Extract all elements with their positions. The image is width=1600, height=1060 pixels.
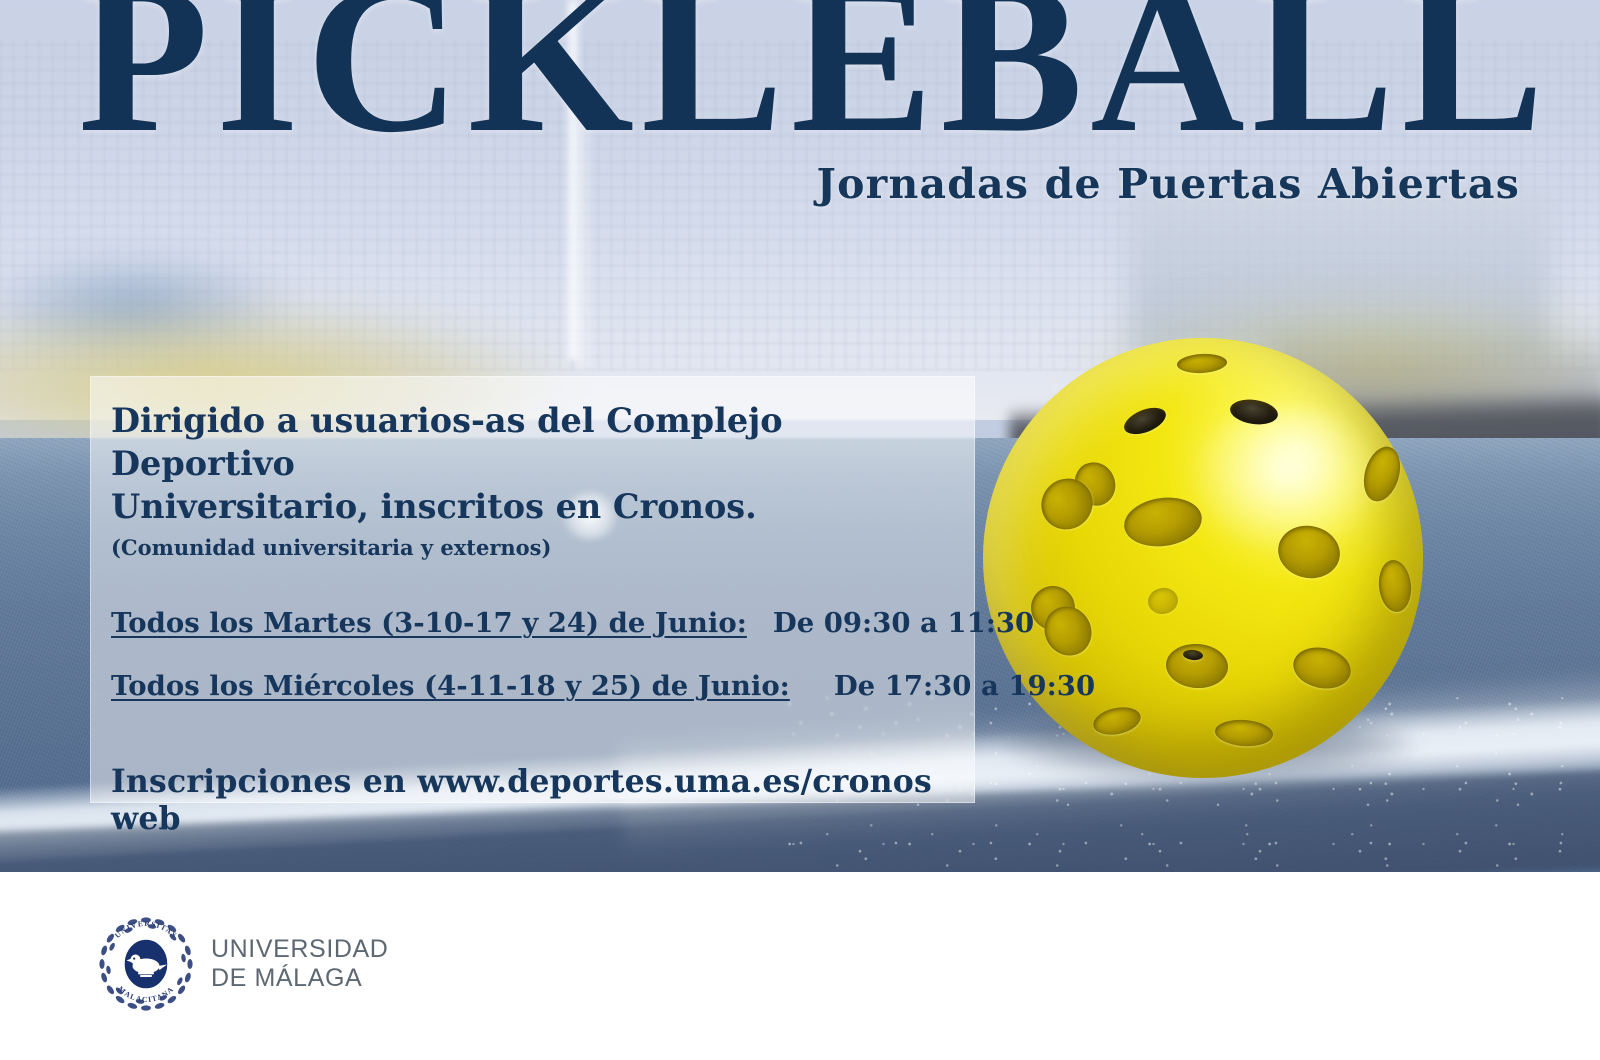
info-panel-content: Dirigido a usuarios-as del Complejo Depo… [111,399,958,837]
footer-bar: UNIVERSITAS MALACITANA [0,872,1600,1060]
schedule-list: Todos los Martes (3-10-17 y 24) de Junio… [111,605,958,705]
schedule-time: De 17:30 a 19:30 [834,670,1095,702]
uma-name-line-2: DE MÁLAGA [211,964,388,993]
signup-line: Inscripciones en www.deportes.uma.es/cro… [111,763,958,837]
info-lead-line-2: Universitario, inscritos en Cronos. [111,485,958,528]
uma-wordmark: UNIVERSIDAD DE MÁLAGA [211,935,388,993]
info-lead-line-1: Dirigido a usuarios-as del Complejo Depo… [111,399,958,485]
schedule-row: Todos los Martes (3-10-17 y 24) de Junio… [111,605,958,642]
uma-name-line-1: UNIVERSIDAD [211,935,388,964]
page-title: PICKLEBALL [78,0,1598,166]
poster-root: PICKLEBALL Jornadas de Puertas Abiertas … [0,0,1600,1060]
schedule-time: De 09:30 a 11:30 [773,607,1034,639]
schedule-days: Todos los Martes (3-10-17 y 24) de Junio… [111,607,747,639]
info-note: (Comunidad universitaria y externos) [111,534,958,561]
pickleball-ball-photo [983,338,1429,784]
svg-text:UNIVERSITAS: UNIVERSITAS [113,919,179,940]
schedule-days: Todos los Miércoles (4-11-18 y 25) de Ju… [111,670,790,702]
ball-rim-shading [983,338,1423,778]
uma-crest-icon: UNIVERSITAS MALACITANA [98,916,194,1012]
info-panel: Dirigido a usuarios-as del Complejo Depo… [90,376,975,803]
page-subtitle: Jornadas de Puertas Abiertas [0,160,1520,208]
schedule-row: Todos los Miércoles (4-11-18 y 25) de Ju… [111,668,958,705]
hero-photo: PICKLEBALL Jornadas de Puertas Abiertas … [0,0,1600,872]
uma-logo-block: UNIVERSITAS MALACITANA [98,916,388,1012]
